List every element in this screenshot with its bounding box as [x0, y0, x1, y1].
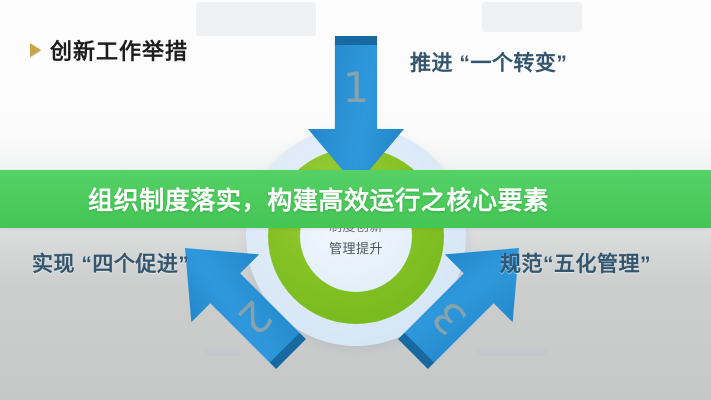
- caption-top: 推进 “一个转变”: [410, 47, 567, 77]
- caption-left: 实现 “四个促进”: [32, 248, 189, 278]
- overlay-banner-text: 组织制度落实，构建高效运行之核心要素: [88, 181, 549, 217]
- page-title: 创新工作举措: [50, 34, 188, 66]
- background-artifact: [478, 348, 548, 356]
- arrow-number: 1: [308, 63, 404, 112]
- overlay-banner: 组织制度落实，构建高效运行之核心要素: [0, 170, 711, 228]
- slide-heading: 创新工作举措: [30, 34, 188, 66]
- arrow-1: 1: [308, 36, 404, 186]
- background-artifact: [482, 2, 582, 32]
- triangle-right-icon: [30, 43, 41, 57]
- arrow-cap: [335, 36, 377, 45]
- slide-canvas: 创新工作举措 1 2 3 推进 “一个转变” 实现 “四个促进” 规范“五化管理…: [0, 0, 711, 400]
- background-artifact: [196, 2, 316, 36]
- ring-label-lower: 管理提升: [329, 238, 383, 257]
- caption-right: 规范“五化管理”: [500, 248, 651, 278]
